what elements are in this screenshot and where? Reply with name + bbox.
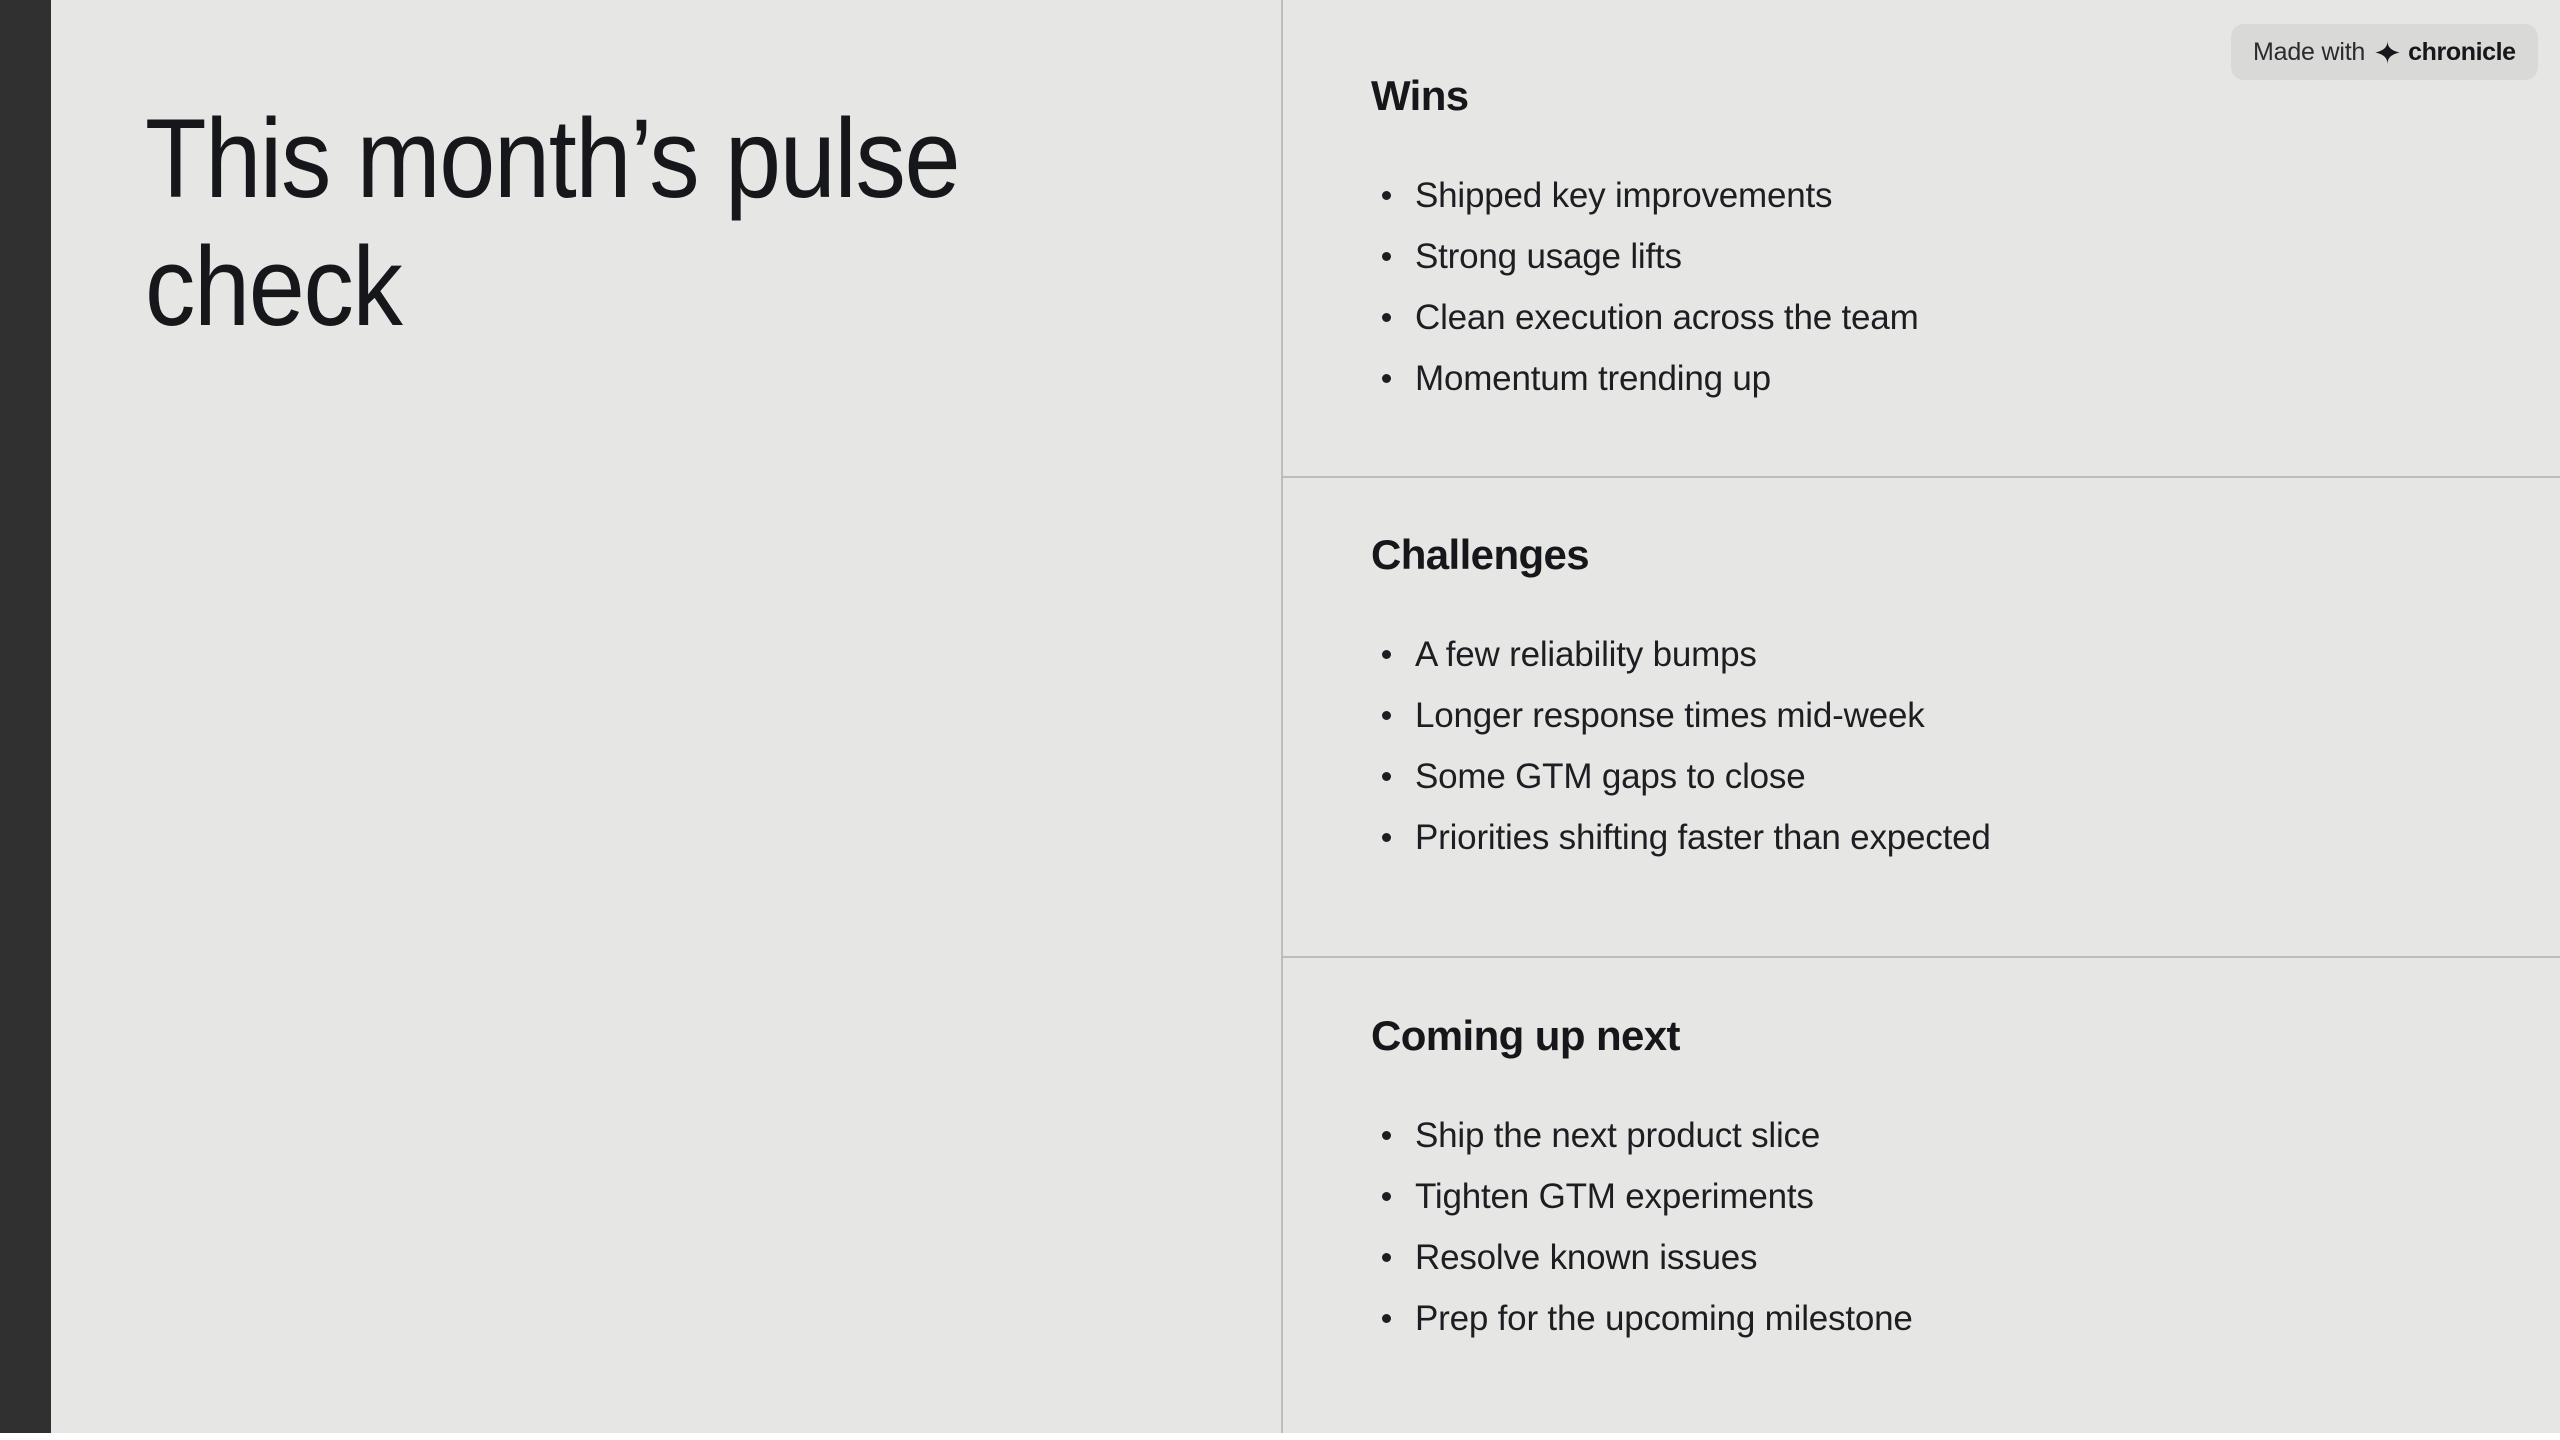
- list-item: Momentum trending up: [1371, 348, 2560, 409]
- list-item-label: Resolve known issues: [1415, 1238, 1757, 1277]
- title-column: This month’s pulse check: [51, 0, 1282, 1433]
- slide-title: This month’s pulse check: [145, 95, 1054, 350]
- bullet-dot-icon: [1382, 313, 1391, 322]
- bullet-dot-icon: [1382, 650, 1391, 659]
- bullet-list-wins: Shipped key improvements Strong usage li…: [1371, 165, 2560, 409]
- list-item-label: Strong usage lifts: [1415, 237, 1682, 276]
- list-item: Prep for the upcoming milestone: [1371, 1288, 2560, 1349]
- section-heading-coming-up-next: Coming up next: [1371, 958, 2560, 1057]
- list-item: Ship the next product slice: [1371, 1105, 2560, 1166]
- presentation-slide: This month’s pulse check Wins Shipped ke…: [0, 0, 2560, 1440]
- list-item: Priorities shifting faster than expected: [1371, 807, 2560, 868]
- slide-bottom-edge: [0, 1433, 2560, 1440]
- bullet-dot-icon: [1382, 1314, 1391, 1323]
- list-item: Longer response times mid-week: [1371, 685, 2560, 746]
- bullet-dot-icon: [1382, 191, 1391, 200]
- list-item-label: Shipped key improvements: [1415, 176, 1832, 215]
- list-item-label: Priorities shifting faster than expected: [1415, 818, 1991, 857]
- bullet-dot-icon: [1382, 1192, 1391, 1201]
- bullet-dot-icon: [1382, 1253, 1391, 1262]
- bullet-dot-icon: [1382, 1131, 1391, 1140]
- slide-left-accent-rail: [0, 0, 51, 1433]
- list-item: Clean execution across the team: [1371, 287, 2560, 348]
- list-item: Some GTM gaps to close: [1371, 746, 2560, 807]
- list-item: Tighten GTM experiments: [1371, 1166, 2560, 1227]
- list-item: Shipped key improvements: [1371, 165, 2560, 226]
- section-coming-up-next: Coming up next Ship the next product sli…: [1283, 958, 2560, 1433]
- bullet-list-coming-up-next: Ship the next product slice Tighten GTM …: [1371, 1105, 2560, 1349]
- bullet-dot-icon: [1382, 252, 1391, 261]
- list-item-label: Momentum trending up: [1415, 359, 1771, 398]
- list-item-label: Longer response times mid-week: [1415, 696, 1925, 735]
- list-item-label: Some GTM gaps to close: [1415, 757, 1805, 796]
- sparkle-icon: [2374, 39, 2401, 66]
- badge-brand-label: chronicle: [2408, 38, 2516, 67]
- section-heading-challenges: Challenges: [1371, 477, 2560, 576]
- list-item-label: A few reliability bumps: [1415, 635, 1757, 674]
- bullet-list-challenges: A few reliability bumps Longer response …: [1371, 624, 2560, 868]
- list-item: Strong usage lifts: [1371, 226, 2560, 287]
- bullet-dot-icon: [1382, 772, 1391, 781]
- list-item-label: Ship the next product slice: [1415, 1116, 1820, 1155]
- list-item-label: Clean execution across the team: [1415, 298, 1919, 337]
- bullet-dot-icon: [1382, 711, 1391, 720]
- list-item-label: Tighten GTM experiments: [1415, 1177, 1814, 1216]
- section-challenges: Challenges A few reliability bumps Longe…: [1283, 477, 2560, 958]
- list-item-label: Prep for the upcoming milestone: [1415, 1299, 1913, 1338]
- badge-made-with-label: Made with: [2253, 38, 2365, 67]
- content-column: Wins Shipped key improvements Strong usa…: [1283, 0, 2560, 1433]
- bullet-dot-icon: [1382, 833, 1391, 842]
- list-item: A few reliability bumps: [1371, 624, 2560, 685]
- list-item: Resolve known issues: [1371, 1227, 2560, 1288]
- made-with-chronicle-badge[interactable]: Made with chronicle: [2231, 24, 2538, 80]
- bullet-dot-icon: [1382, 374, 1391, 383]
